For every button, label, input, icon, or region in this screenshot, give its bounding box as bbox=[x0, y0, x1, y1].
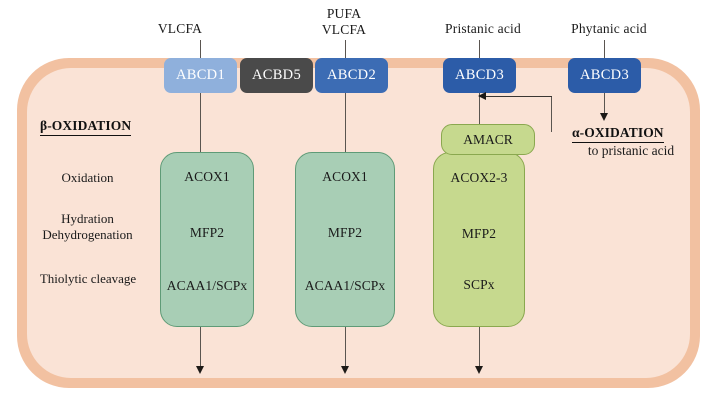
step-line: Oxidation bbox=[20, 170, 155, 186]
enzyme-acaa1-scpx: ACAA1/SCPx bbox=[161, 278, 253, 294]
substrate-line: PUFA bbox=[304, 6, 384, 22]
step-line: Dehydrogenation bbox=[20, 227, 155, 243]
step-line: Hydration bbox=[20, 211, 155, 227]
transporter-acbd5[interactable]: ACBD5 bbox=[240, 58, 313, 93]
substrate-label-pufa-vlcfa: PUFA VLCFA bbox=[304, 6, 384, 37]
arrow-phytanic-to-alpha-oxidation bbox=[600, 113, 608, 121]
substrate-line: Pristanic acid bbox=[423, 21, 543, 37]
substrate-line: VLCFA bbox=[304, 22, 384, 38]
flow-line-vlcfa-to-column bbox=[200, 93, 201, 153]
enzyme-acox1: ACOX1 bbox=[161, 169, 253, 185]
enzyme-scpx: SCPx bbox=[434, 277, 524, 293]
transporter-abcd3-pristanic[interactable]: ABCD3 bbox=[443, 58, 516, 93]
enzyme-acox2-3: ACOX2-3 bbox=[434, 170, 524, 186]
alpha-oxidation-title: α-OXIDATION bbox=[572, 125, 664, 143]
product-line-pufa-vlcfa bbox=[345, 327, 346, 368]
flow-line-phytanic-to-alpha-oxidation bbox=[604, 93, 605, 115]
step-line: Thiolytic cleavage bbox=[14, 271, 162, 287]
diagram-canvas: VLCFA PUFA VLCFA Pristanic acid Phytanic… bbox=[0, 0, 722, 405]
entry-line-phytanic bbox=[604, 40, 605, 60]
step-label-oxidation: Oxidation bbox=[20, 170, 155, 186]
arrow-feedback-to-pristanic bbox=[478, 92, 486, 100]
enzyme-column-pufa-vlcfa: ACOX1 MFP2 ACAA1/SCPx bbox=[295, 152, 395, 327]
enzyme-mfp2: MFP2 bbox=[161, 225, 253, 241]
substrate-label-pristanic-acid: Pristanic acid bbox=[423, 21, 543, 37]
entry-line-vlcfa bbox=[200, 40, 201, 60]
product-line-vlcfa bbox=[200, 327, 201, 368]
substrate-line: Phytanic acid bbox=[549, 21, 669, 37]
arrow-product-vlcfa bbox=[196, 366, 204, 374]
beta-oxidation-title: β-OXIDATION bbox=[40, 118, 131, 136]
transporter-abcd1[interactable]: ABCD1 bbox=[164, 58, 237, 93]
flow-line-pufa-to-column bbox=[345, 93, 346, 153]
enzyme-column-vlcfa: ACOX1 MFP2 ACAA1/SCPx bbox=[160, 152, 254, 327]
feedback-line-vertical bbox=[551, 96, 552, 132]
enzyme-mfp2: MFP2 bbox=[434, 226, 524, 242]
transporter-abcd2[interactable]: ABCD2 bbox=[315, 58, 388, 93]
substrate-line: VLCFA bbox=[140, 21, 220, 37]
transporter-abcd3-phytanic[interactable]: ABCD3 bbox=[568, 58, 641, 93]
alpha-oxidation-subtitle: to pristanic acid bbox=[556, 143, 706, 159]
substrate-label-phytanic-acid: Phytanic acid bbox=[549, 21, 669, 37]
feedback-line-horizontal bbox=[486, 96, 552, 97]
arrow-product-pufa-vlcfa bbox=[341, 366, 349, 374]
substrate-label-vlcfa: VLCFA bbox=[140, 21, 220, 37]
product-line-pristanic bbox=[479, 327, 480, 368]
entry-line-pufa-vlcfa bbox=[345, 40, 346, 60]
entry-line-pristanic bbox=[479, 40, 480, 60]
step-label-hydration-dehydrogenation: Hydration Dehydrogenation bbox=[20, 211, 155, 243]
step-label-thiolytic-cleavage: Thiolytic cleavage bbox=[14, 271, 162, 287]
enzyme-acaa1-scpx: ACAA1/SCPx bbox=[296, 278, 394, 294]
arrow-product-pristanic bbox=[475, 366, 483, 374]
enzyme-acox1: ACOX1 bbox=[296, 169, 394, 185]
enzyme-amacr: AMACR bbox=[441, 124, 535, 155]
enzyme-column-pristanic: ACOX2-3 MFP2 SCPx bbox=[433, 152, 525, 327]
enzyme-mfp2: MFP2 bbox=[296, 225, 394, 241]
